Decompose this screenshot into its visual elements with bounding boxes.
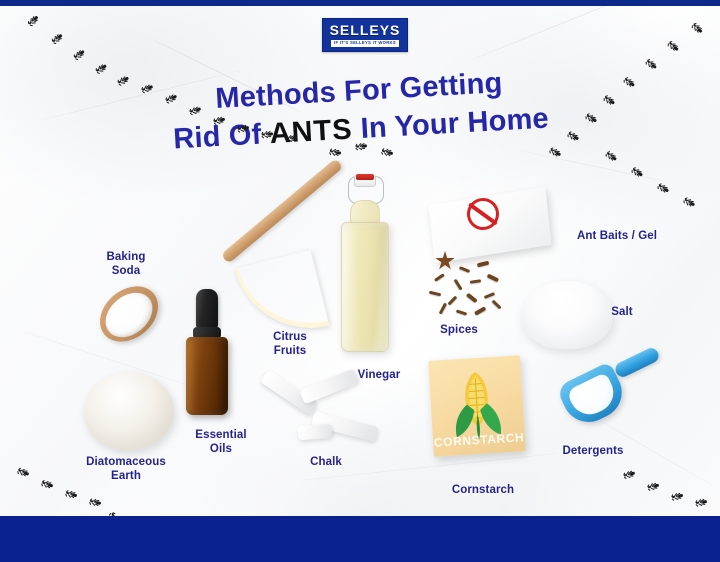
ant-icon bbox=[356, 143, 368, 149]
ant-icon bbox=[262, 131, 274, 137]
page-title: Methods For Getting Rid Of ANTS In Your … bbox=[0, 52, 720, 169]
label-spices: Spices bbox=[431, 323, 487, 337]
label-citrus-fruits: Citrus Fruits bbox=[257, 330, 323, 359]
label-detergents: Detergents bbox=[548, 444, 638, 458]
label-baking-soda: Baking Soda bbox=[92, 250, 160, 279]
footer-bar bbox=[0, 516, 720, 562]
ant-icon bbox=[606, 151, 618, 161]
ant-icon bbox=[286, 135, 297, 141]
marble-vein bbox=[470, 0, 656, 61]
ant-icon bbox=[17, 468, 29, 476]
cornstarch-box-icon: CORNSTARCH bbox=[428, 355, 526, 456]
label-salt: Salt bbox=[600, 305, 644, 319]
title-part-b: In Your Home bbox=[352, 103, 550, 146]
ant-icon bbox=[646, 59, 658, 70]
label-cornstarch: Cornstarch bbox=[438, 483, 528, 497]
title-line-1: Methods For Getting bbox=[0, 52, 719, 130]
ant-icon bbox=[52, 33, 64, 44]
title-part-a: Rid Of bbox=[173, 118, 271, 155]
ant-icon bbox=[214, 117, 226, 125]
ant-icon bbox=[90, 499, 102, 506]
ant-icon bbox=[648, 483, 660, 491]
logo-tagline: IF IT'S SELLEYS IT WORKS bbox=[331, 40, 399, 46]
marble-vein bbox=[40, 69, 244, 121]
ant-icon bbox=[668, 41, 680, 52]
label-vinegar: Vinegar bbox=[348, 368, 410, 382]
label-ant-baits-gel: Ant Baits / Gel bbox=[558, 229, 676, 243]
ant-icon bbox=[657, 184, 669, 194]
label-diatomaceous-earth: Diatomaceous Earth bbox=[62, 455, 190, 484]
ant-icon bbox=[692, 23, 704, 34]
ant-icon bbox=[74, 49, 86, 60]
ant-icon bbox=[238, 125, 250, 132]
ant-icon bbox=[117, 76, 129, 86]
ant-icon bbox=[382, 149, 394, 156]
label-chalk: Chalk bbox=[298, 455, 354, 469]
ant-icon bbox=[604, 95, 616, 105]
ant-icon bbox=[624, 77, 636, 87]
infographic-poster: SELLEYS IF IT'S SELLEYS IT WORKS Methods… bbox=[0, 0, 720, 562]
title-highlight-ants: ANTS bbox=[269, 114, 354, 151]
ant-icon bbox=[330, 149, 342, 155]
ant-icon bbox=[165, 94, 177, 103]
ant-icon bbox=[632, 167, 644, 177]
ant-icon bbox=[96, 63, 108, 73]
marble-vein bbox=[150, 38, 303, 114]
ant-icon bbox=[189, 106, 201, 114]
ant-icon bbox=[683, 198, 695, 208]
logo-wordmark: SELLEYS bbox=[330, 23, 401, 37]
ant-icon bbox=[28, 15, 39, 26]
selleys-logo: SELLEYS IF IT'S SELLEYS IT WORKS bbox=[322, 18, 408, 52]
marble-vein bbox=[520, 150, 667, 182]
label-essential-oils: Essential Oils bbox=[180, 428, 262, 457]
ant-icon bbox=[66, 491, 78, 499]
ant-icon bbox=[696, 499, 708, 506]
top-accent-strip bbox=[0, 0, 720, 6]
ant-icon bbox=[585, 114, 597, 124]
powder-pile-icon bbox=[84, 372, 174, 450]
ant-icon bbox=[672, 493, 684, 501]
ant-icon bbox=[567, 132, 579, 142]
ant-icon bbox=[42, 481, 54, 489]
ant-icon bbox=[623, 470, 635, 478]
